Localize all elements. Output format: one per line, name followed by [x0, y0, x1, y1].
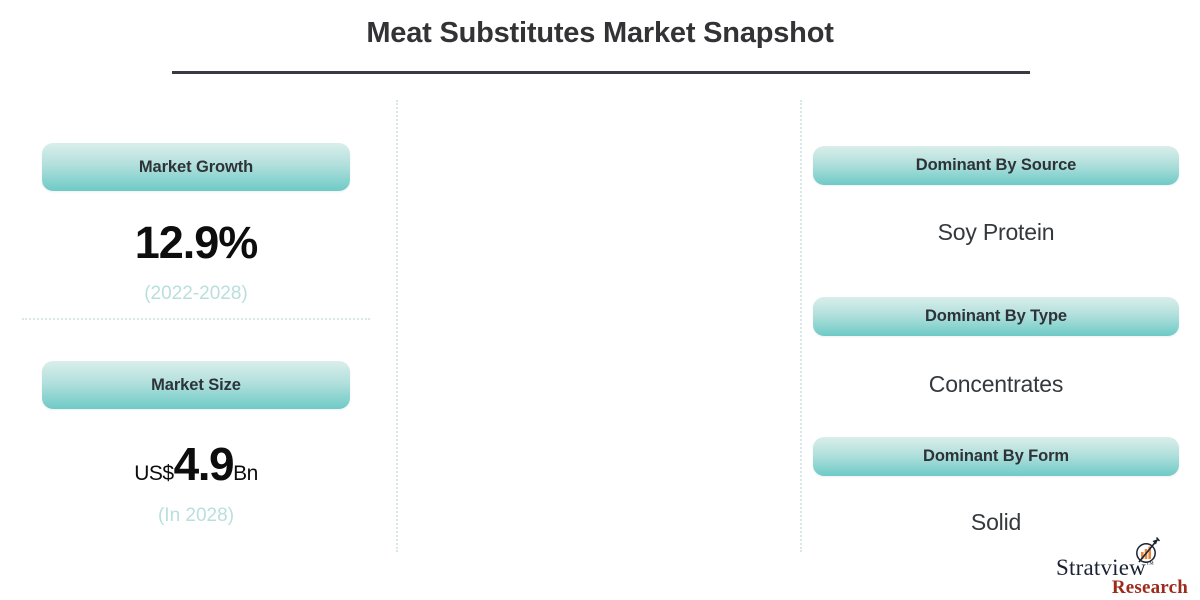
stratview-research-logo: Stratview™ Research: [1056, 536, 1188, 594]
market-size-pill: Market Size: [42, 361, 350, 409]
market-size-unit-suffix: Bn: [233, 462, 258, 485]
market-size-pill-label: Market Size: [151, 376, 241, 395]
market-growth-pill: Market Growth: [42, 143, 350, 191]
market-growth-pill-label: Market Growth: [139, 158, 253, 177]
market-size-currency-prefix: US$: [134, 462, 173, 485]
market-size-value: US$4.9Bn: [42, 437, 350, 491]
market-size-period: (In 2028): [42, 505, 350, 527]
market-growth-value: 12.9%: [42, 217, 350, 269]
market-growth-period: (2022-2028): [42, 283, 350, 305]
logo-subtitle: Research: [1056, 577, 1188, 599]
market-size-number: 4.9: [174, 438, 233, 490]
logo-trademark-icon: ™: [1146, 559, 1154, 568]
right-column: Asia-Pacific is estimated to be the larg…: [800, 0, 1200, 600]
middle-column: Dominant By Source Soy Protein Dominant …: [396, 0, 800, 600]
left-column: Market Growth 12.9% (2022-2028) Market S…: [0, 0, 396, 600]
